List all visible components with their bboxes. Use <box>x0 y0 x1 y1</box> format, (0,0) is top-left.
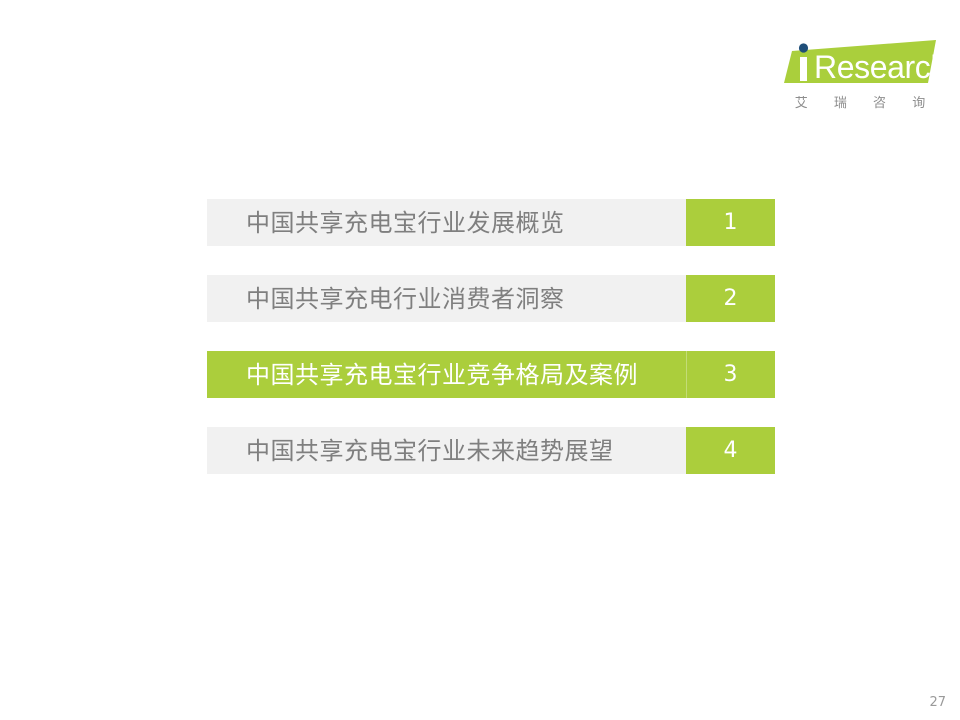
agenda-row-1[interactable]: 中国共享充电宝行业发展概览 1 <box>207 199 775 246</box>
agenda-row-3-active[interactable]: 中国共享充电宝行业竞争格局及案例 3 <box>207 351 775 398</box>
iresearch-logo-mark: Research <box>770 36 940 90</box>
agenda-item-label: 中国共享充电宝行业未来趋势展望 <box>207 427 686 474</box>
agenda-row-4[interactable]: 中国共享充电宝行业未来趋势展望 4 <box>207 427 775 474</box>
agenda-item-number: 3 <box>686 351 775 398</box>
agenda-list: 中国共享充电宝行业发展概览 1 中国共享充电行业消费者洞察 2 中国共享充电宝行… <box>207 199 775 474</box>
agenda-item-number: 2 <box>686 275 775 322</box>
iresearch-logo: Research 艾 瑞 咨 询 <box>770 36 940 116</box>
iresearch-logo-subtitle: 艾 瑞 咨 询 <box>780 92 940 111</box>
agenda-item-number: 4 <box>686 427 775 474</box>
agenda-item-number: 1 <box>686 199 775 246</box>
agenda-item-label: 中国共享充电宝行业竞争格局及案例 <box>207 351 686 398</box>
agenda-item-label: 中国共享充电宝行业发展概览 <box>207 199 686 246</box>
slide-canvas: Research 艾 瑞 咨 询 中国共享充电宝行业发展概览 1 中国共享充电行… <box>0 0 960 720</box>
agenda-row-2[interactable]: 中国共享充电行业消费者洞察 2 <box>207 275 775 322</box>
agenda-item-label: 中国共享充电行业消费者洞察 <box>207 275 686 322</box>
svg-text:Research: Research <box>814 49 940 85</box>
page-number: 27 <box>929 695 946 710</box>
